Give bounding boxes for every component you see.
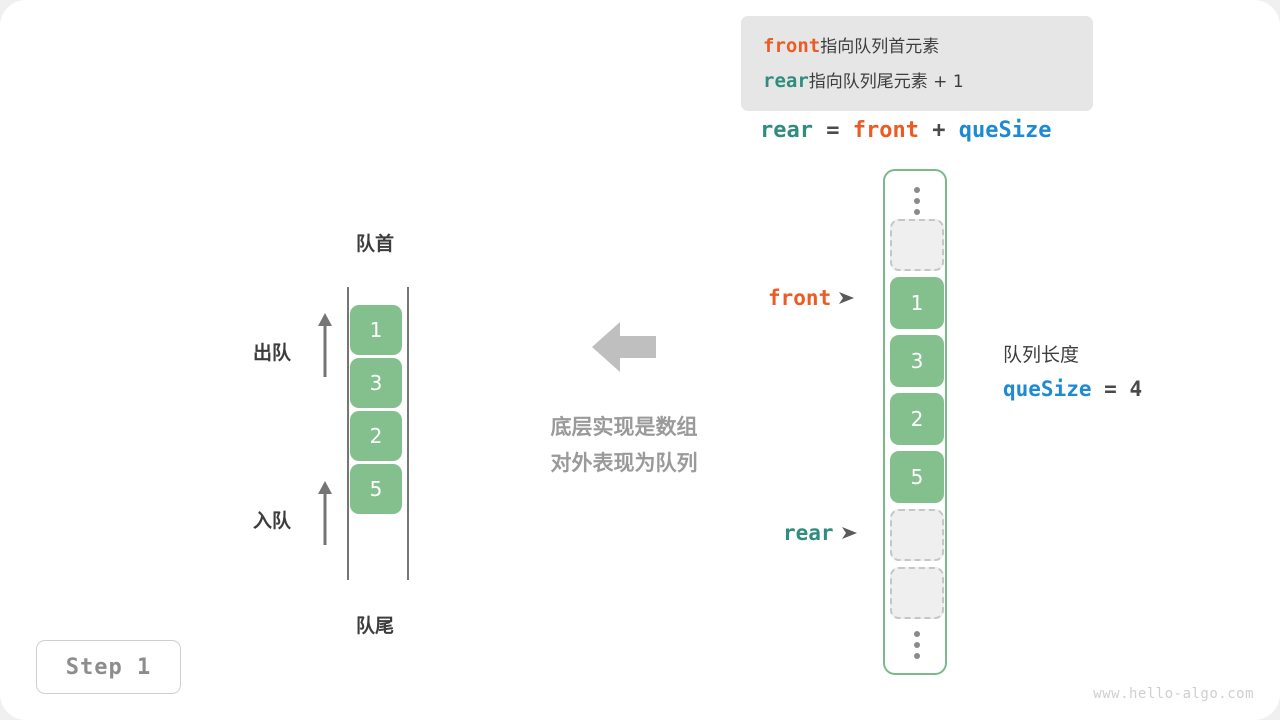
array-container: 1 3 2 5 xyxy=(883,169,947,675)
queue-cell: 1 xyxy=(350,305,402,355)
formula-plus: + xyxy=(919,118,959,143)
queue-size-annotation: 队列长度 queSize = 4 xyxy=(1003,340,1142,401)
watermark: www.hello-algo.com xyxy=(1093,686,1254,702)
array-top-ellipsis-icon xyxy=(885,187,949,215)
front-pointer-label: front xyxy=(768,286,831,310)
array-cell xyxy=(890,219,944,271)
array-cell xyxy=(890,509,944,561)
left-arrow-icon xyxy=(592,318,656,381)
front-pointer: front xyxy=(768,286,855,310)
queue-size-expression: queSize = 4 xyxy=(1003,377,1142,401)
quesize-keyword: queSize xyxy=(1003,377,1092,401)
queue-tail-label: 队尾 xyxy=(305,611,445,638)
rear-formula: rear = front + queSize xyxy=(760,118,1051,143)
rear-pointer: rear xyxy=(783,521,858,545)
queue-cell: 3 xyxy=(350,358,402,408)
enqueue-arrow-icon xyxy=(316,481,334,545)
formula-quesize: queSize xyxy=(959,118,1052,143)
queue-head-label: 队首 xyxy=(305,229,445,256)
queue-cell: 5 xyxy=(350,464,402,514)
array-bottom-ellipsis-icon xyxy=(885,631,949,659)
formula-front: front xyxy=(853,118,919,143)
dequeue-label: 出队 xyxy=(253,338,291,365)
front-pointer-arrow-icon xyxy=(839,286,855,310)
front-description: 指向队列首元素 xyxy=(820,37,939,57)
enqueue-label: 入队 xyxy=(253,506,291,533)
array-cell: 5 xyxy=(890,451,944,503)
rear-description: 指向队列尾元素 + 1 xyxy=(809,72,964,92)
diagram-canvas: front指向队列首元素 rear指向队列尾元素 + 1 rear = fron… xyxy=(0,0,1280,720)
formula-rear: rear xyxy=(760,118,813,143)
array-cell xyxy=(890,567,944,619)
front-keyword: front xyxy=(763,35,820,57)
rear-keyword: rear xyxy=(763,70,809,92)
formula-equals: = xyxy=(813,118,853,143)
rear-pointer-label: rear xyxy=(783,521,834,545)
array-cell: 2 xyxy=(890,393,944,445)
array-cell: 1 xyxy=(890,277,944,329)
caption-line-1: 底层实现是数组 xyxy=(508,409,740,445)
implementation-caption: 底层实现是数组 对外表现为队列 xyxy=(508,409,740,481)
queue-cell: 2 xyxy=(350,411,402,461)
pointer-definition-note: front指向队列首元素 rear指向队列尾元素 + 1 xyxy=(741,16,1093,111)
array-cell: 3 xyxy=(890,335,944,387)
queue-rail-left xyxy=(347,287,349,580)
rear-definition-line: rear指向队列尾元素 + 1 xyxy=(763,64,1073,99)
queue-rail-right xyxy=(407,287,409,580)
dequeue-arrow-icon xyxy=(316,313,334,377)
quesize-equals: = xyxy=(1092,377,1130,401)
rear-pointer-arrow-icon xyxy=(842,521,858,545)
quesize-value: 4 xyxy=(1129,377,1142,401)
queue-size-title: 队列长度 xyxy=(1003,340,1142,367)
step-badge: Step 1 xyxy=(36,640,181,694)
caption-line-2: 对外表现为队列 xyxy=(508,445,740,481)
front-definition-line: front指向队列首元素 xyxy=(763,29,1073,64)
